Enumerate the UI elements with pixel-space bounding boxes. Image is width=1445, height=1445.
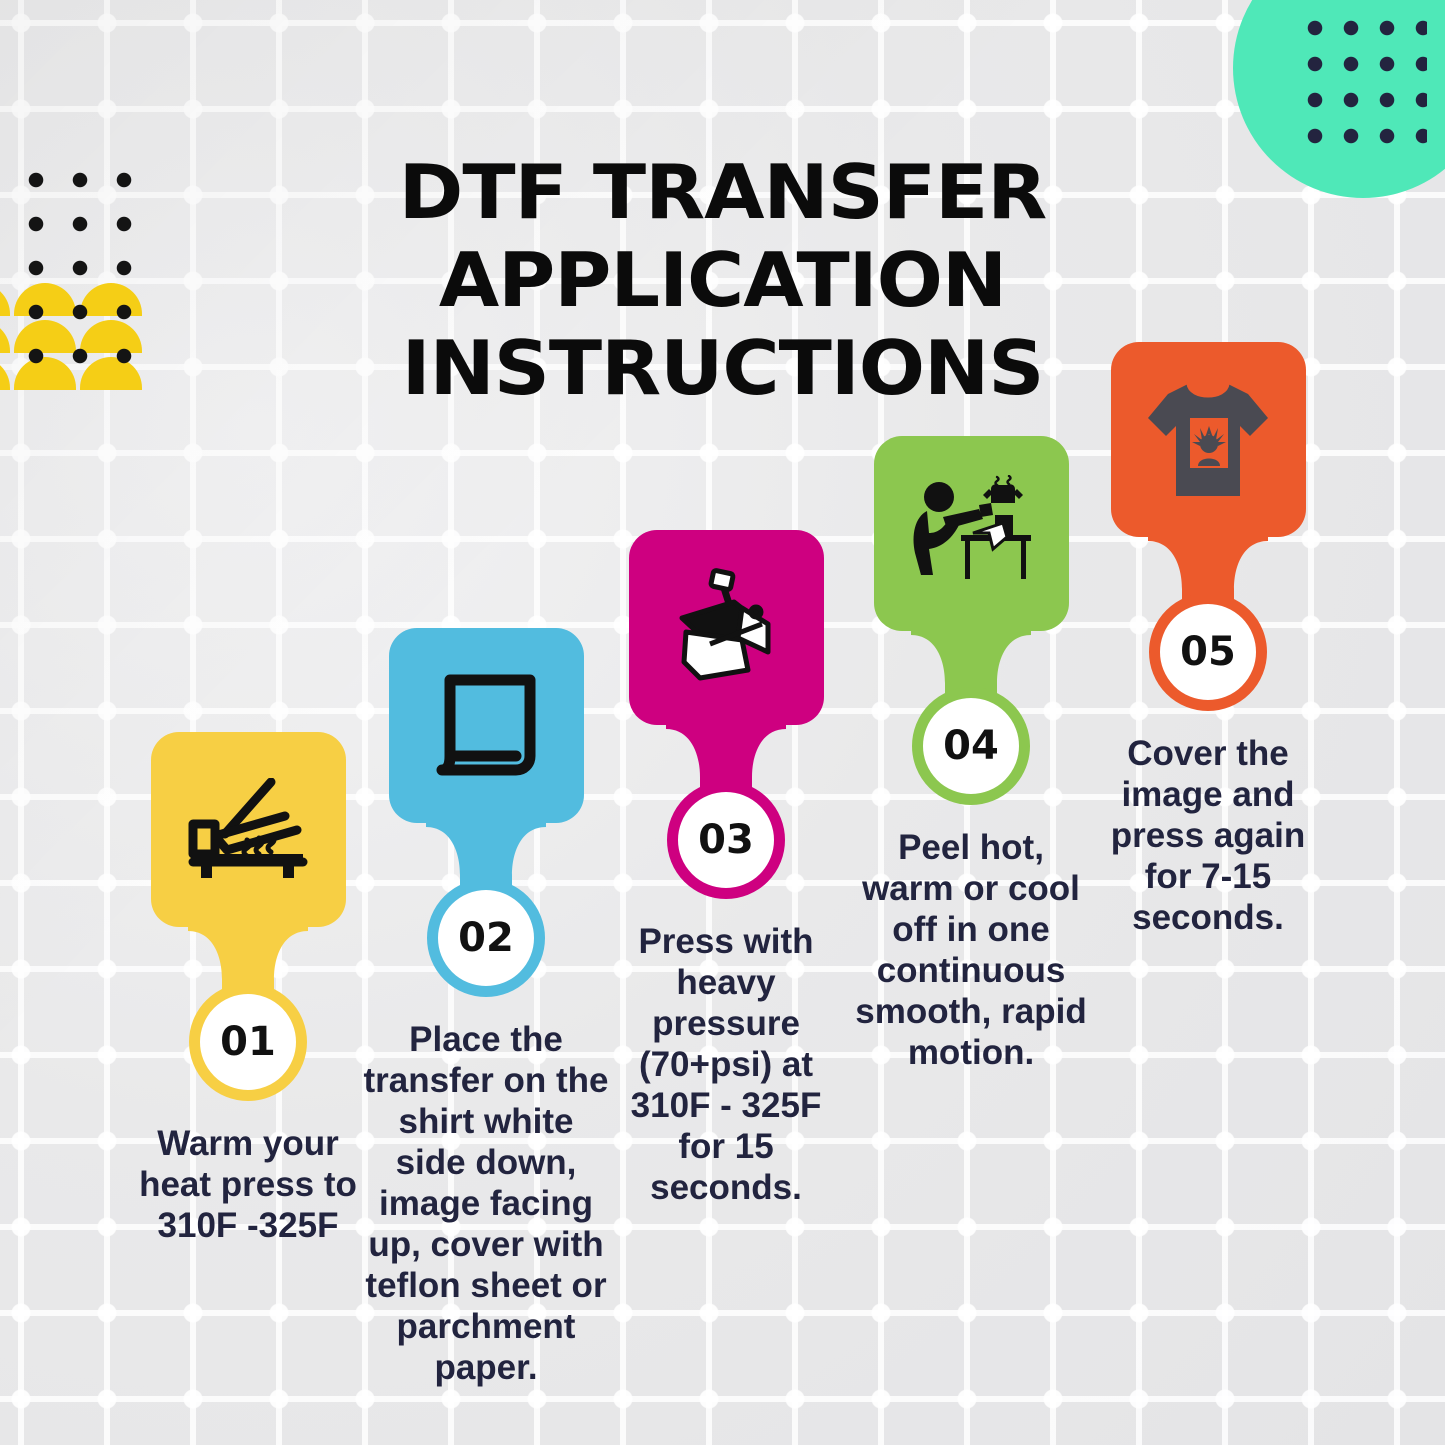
step-05-number: 05 bbox=[1180, 629, 1236, 675]
step-02-caption: Place the transfer on the shirt white si… bbox=[363, 1019, 609, 1388]
scallop-shape bbox=[0, 357, 10, 390]
heat-press-machine-icon bbox=[664, 566, 788, 690]
step-03-caption: Press with heavy pressure (70+psi) at 31… bbox=[603, 921, 849, 1208]
step-01-number-badge[interactable]: 01 bbox=[189, 983, 307, 1101]
step-04-caption: Peel hot, warm or cool off in one contin… bbox=[848, 827, 1094, 1073]
step-01-caption: Warm your heat press to 310F -325F bbox=[125, 1123, 371, 1246]
step-01[interactable]: 01 Warm your heat press to 310F -325F bbox=[130, 732, 366, 1246]
step-03-number: 03 bbox=[698, 817, 754, 863]
step-05[interactable]: 05 Cover the image and press again for 7… bbox=[1090, 342, 1326, 938]
step-02-icon-card[interactable] bbox=[389, 628, 584, 823]
step-01-number: 01 bbox=[220, 1019, 276, 1065]
step-03-icon-card[interactable] bbox=[629, 530, 824, 725]
step-03-number-badge[interactable]: 03 bbox=[667, 781, 785, 899]
step-02[interactable]: 02 Place the transfer on the shirt white… bbox=[368, 628, 604, 1388]
step-04[interactable]: 04 Peel hot, warm or cool off in one con… bbox=[853, 436, 1089, 1073]
heat-press-open-icon bbox=[185, 778, 311, 882]
printed-tshirt-icon bbox=[1142, 378, 1274, 502]
scallop-shape bbox=[0, 283, 10, 316]
dot-grid-top-left-decoration bbox=[14, 158, 144, 380]
step-02-number: 02 bbox=[458, 915, 514, 961]
step-05-number-badge[interactable]: 05 bbox=[1149, 593, 1267, 711]
step-04-number: 04 bbox=[943, 723, 999, 769]
step-01-icon-card[interactable] bbox=[151, 732, 346, 927]
transfer-sheet-icon bbox=[430, 670, 542, 782]
step-02-number-badge[interactable]: 02 bbox=[427, 879, 545, 997]
steps-container: 01 Warm your heat press to 310F -325F 02… bbox=[0, 0, 1445, 1445]
step-05-icon-card[interactable] bbox=[1111, 342, 1306, 537]
step-05-caption: Cover the image and press again for 7-15… bbox=[1085, 733, 1331, 938]
step-04-number-badge[interactable]: 04 bbox=[912, 687, 1030, 805]
step-03[interactable]: 03 Press with heavy pressure (70+psi) at… bbox=[608, 530, 844, 1208]
scallop-shape bbox=[0, 320, 10, 353]
step-04-icon-card[interactable] bbox=[874, 436, 1069, 631]
person-peeling-transfer-icon bbox=[903, 475, 1039, 593]
